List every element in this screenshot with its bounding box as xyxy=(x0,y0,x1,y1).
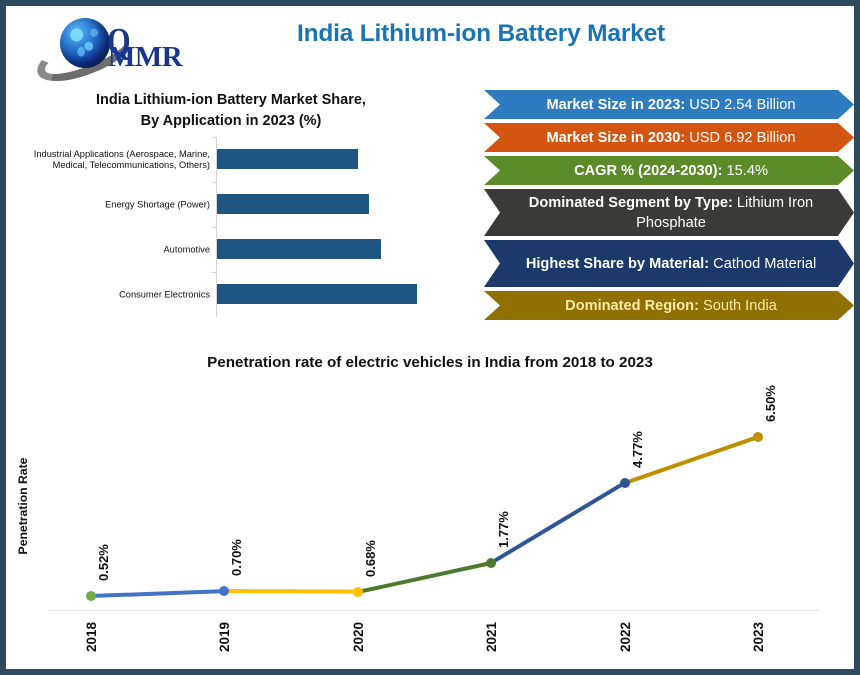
globe-icon xyxy=(60,18,110,68)
bar-row: Industrial Applications (Aerospace, Mari… xyxy=(6,137,436,182)
logo-wordmark: MMR xyxy=(108,41,182,74)
line-data-point xyxy=(219,586,229,596)
line-data-label: 1.77% xyxy=(496,511,511,548)
bar-value-rect xyxy=(217,149,358,169)
bar-category-label: Automotive xyxy=(6,244,210,255)
line-data-point xyxy=(353,587,363,597)
line-chart-baseline xyxy=(48,610,820,611)
x-axis-label: 2023 xyxy=(751,622,766,652)
line-segment xyxy=(224,589,357,594)
highlight-banner-value: South India xyxy=(699,298,777,314)
line-data-label: 0.68% xyxy=(363,540,378,577)
bar-axis-tick xyxy=(212,272,217,273)
bar-row: Energy Shortage (Power) xyxy=(6,182,436,227)
line-chart-plot-area: 0.52%0.70%0.68%1.77%4.77%6.50% 201820192… xyxy=(6,384,854,669)
x-axis-label: 2021 xyxy=(484,622,499,652)
bar-value-rect xyxy=(217,194,369,214)
bar-row: Automotive xyxy=(6,227,436,272)
highlight-banner-value: Cathod Material xyxy=(709,256,816,272)
bar-chart-plot-area: Industrial Applications (Aerospace, Mari… xyxy=(6,137,436,317)
highlight-banner-value: USD 2.54 Billion xyxy=(685,97,795,113)
header: Q MMR India Lithium-ion Battery Market xyxy=(6,6,854,78)
bar-row: Consumer Electronics xyxy=(6,272,436,317)
bar-category-label: Energy Shortage (Power) xyxy=(6,199,210,210)
highlight-banner: Dominated Segment by Type: Lithium Iron … xyxy=(484,189,854,236)
x-axis-label: 2022 xyxy=(618,622,633,652)
bar-category-label: Industrial Applications (Aerospace, Mari… xyxy=(6,149,210,171)
highlight-banner: CAGR % (2024-2030): 15.4% xyxy=(484,156,854,185)
line-data-point xyxy=(620,478,630,488)
highlight-banner: Highest Share by Material: Cathod Materi… xyxy=(484,240,854,287)
line-data-point xyxy=(86,591,96,601)
highlight-banner: Market Size in 2030: USD 6.92 Billion xyxy=(484,123,854,152)
market-share-bar-chart: India Lithium-ion Battery Market Share, … xyxy=(6,90,446,325)
highlight-banner-key: Dominated Region: xyxy=(565,298,699,314)
bar-axis-tick xyxy=(212,182,217,183)
line-data-label: 6.50% xyxy=(763,385,778,422)
bar-axis-tick xyxy=(212,227,217,228)
bar-chart-title-line1: India Lithium-ion Battery Market Share, xyxy=(96,92,366,108)
highlight-banner: Dominated Region: South India xyxy=(484,291,854,320)
highlight-banner-key: Dominated Segment by Type: xyxy=(529,195,733,211)
line-segment xyxy=(91,589,225,598)
highlight-banner-key: Market Size in 2023: xyxy=(546,97,685,113)
key-highlights-banners: Market Size in 2023: USD 2.54 BillionMar… xyxy=(484,90,854,334)
bar-chart-title-line2: By Application in 2023 (%) xyxy=(141,113,322,129)
x-axis-label: 2018 xyxy=(84,622,99,652)
mmr-logo: Q MMR xyxy=(12,8,187,74)
x-axis-label: 2020 xyxy=(351,622,366,652)
bar-value-rect xyxy=(217,239,381,259)
bar-axis-tick xyxy=(212,137,217,138)
highlight-banner: Market Size in 2023: USD 2.54 Billion xyxy=(484,90,854,119)
infographic-page: Q MMR India Lithium-ion Battery Market I… xyxy=(0,0,860,675)
bar-value-rect xyxy=(217,284,417,304)
highlight-banner-value: 15.4% xyxy=(723,163,768,179)
line-data-label: 0.52% xyxy=(96,544,111,581)
page-title: India Lithium-ion Battery Market xyxy=(231,20,731,48)
line-data-point xyxy=(486,558,496,568)
line-data-label: 0.70% xyxy=(229,539,244,576)
line-chart-title: Penetration rate of electric vehicles in… xyxy=(30,354,830,371)
bar-category-label: Consumer Electronics xyxy=(6,289,210,300)
highlight-banner-key: Highest Share by Material: xyxy=(526,256,709,272)
x-axis-label: 2019 xyxy=(217,622,232,652)
highlight-banner-key: CAGR % (2024-2030): xyxy=(574,163,722,179)
bar-chart-title: India Lithium-ion Battery Market Share, … xyxy=(36,90,426,132)
ev-penetration-line-chart: Penetration rate of electric vehicles in… xyxy=(6,344,854,669)
highlight-banner-value: USD 6.92 Billion xyxy=(685,130,795,146)
line-data-label: 4.77% xyxy=(630,431,645,468)
highlight-banner-key: Market Size in 2030: xyxy=(546,130,685,146)
line-data-point xyxy=(753,432,763,442)
